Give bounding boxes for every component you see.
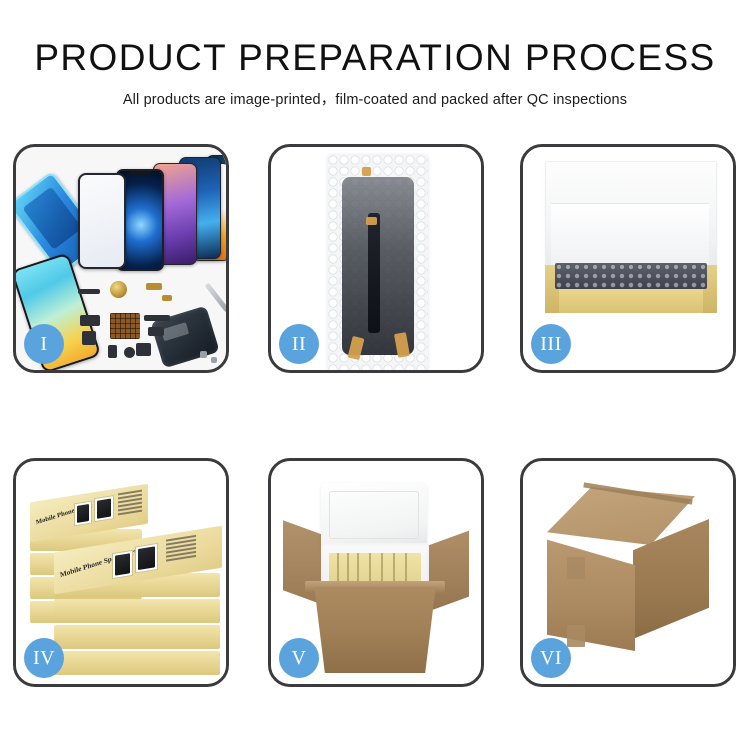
part-screw: [200, 351, 207, 358]
stacked-box: [54, 651, 220, 675]
carton-tape-upper: [567, 557, 585, 579]
step-panel-1: I: [13, 144, 229, 373]
tape-mid: [366, 217, 377, 225]
step-badge-6: VI: [531, 638, 571, 678]
part-bracket: [80, 315, 100, 326]
step-2-image: II: [271, 147, 481, 370]
box-spec-lines: [118, 490, 142, 518]
part-button: [124, 347, 135, 358]
carton-tape-lower: [567, 625, 585, 647]
step-panel-6: VI: [520, 458, 736, 687]
tape-top: [362, 167, 371, 176]
box-spec-lines: [166, 535, 196, 564]
flex-cable: [368, 213, 380, 333]
box-window: [94, 495, 114, 522]
box-lid-fold: [551, 203, 709, 266]
step-panel-5: V: [268, 458, 484, 687]
box-window: [112, 550, 133, 579]
step-badge-2: II: [279, 324, 319, 364]
box-window: [135, 543, 158, 574]
carton-body: [309, 587, 441, 673]
carton-front-face: [547, 535, 635, 651]
step-badge-4: IV: [24, 638, 64, 678]
speaker-module-icon: [110, 281, 127, 298]
screwdriver-icon: [205, 283, 226, 313]
page-subtitle: All products are image-printed，film-coat…: [0, 88, 750, 109]
step-3-image: III: [523, 147, 733, 370]
disassembled-parts-group: [78, 273, 226, 370]
stacked-box: [54, 625, 220, 649]
part-flex-bar: [78, 289, 100, 294]
step-5-image: V: [271, 461, 481, 684]
logic-board-icon: [110, 313, 140, 339]
step-badge-3: III: [531, 324, 571, 364]
step-badge-5: V: [279, 638, 319, 678]
part-camera: [148, 327, 164, 336]
step-badge-1: I: [24, 324, 64, 364]
bubble-wrap-contents: [555, 263, 707, 289]
box-window: [74, 501, 92, 527]
process-steps-grid: I II: [13, 144, 745, 678]
bubble-wrap-bag: [328, 155, 428, 370]
step-panel-3: III: [520, 144, 736, 373]
part-module: [82, 331, 96, 345]
screen-protector-glass: [78, 173, 126, 269]
step-panel-4: Mobile Phone Spare Parts Mobile Phone Sp…: [13, 458, 229, 687]
header: PRODUCT PREPARATION PROCESS All products…: [0, 36, 750, 109]
step-panel-2: II: [268, 144, 484, 373]
stacked-box: [54, 599, 220, 623]
part-speaker: [136, 343, 151, 356]
step-6-image: VI: [523, 461, 733, 684]
part-screw-2: [211, 357, 217, 363]
part-sim-tray: [108, 345, 117, 358]
step-4-image: Mobile Phone Spare Parts Mobile Phone Sp…: [16, 461, 226, 684]
product-preparation-infographic: PRODUCT PREPARATION PROCESS All products…: [0, 0, 750, 750]
step-1-image: I: [16, 147, 226, 370]
part-ribbon-cable: [144, 315, 170, 321]
page-title: PRODUCT PREPARATION PROCESS: [0, 36, 750, 80]
part-gold-connector: [146, 283, 162, 290]
part-gold-clip: [162, 295, 172, 301]
foam-lid: [321, 483, 427, 549]
